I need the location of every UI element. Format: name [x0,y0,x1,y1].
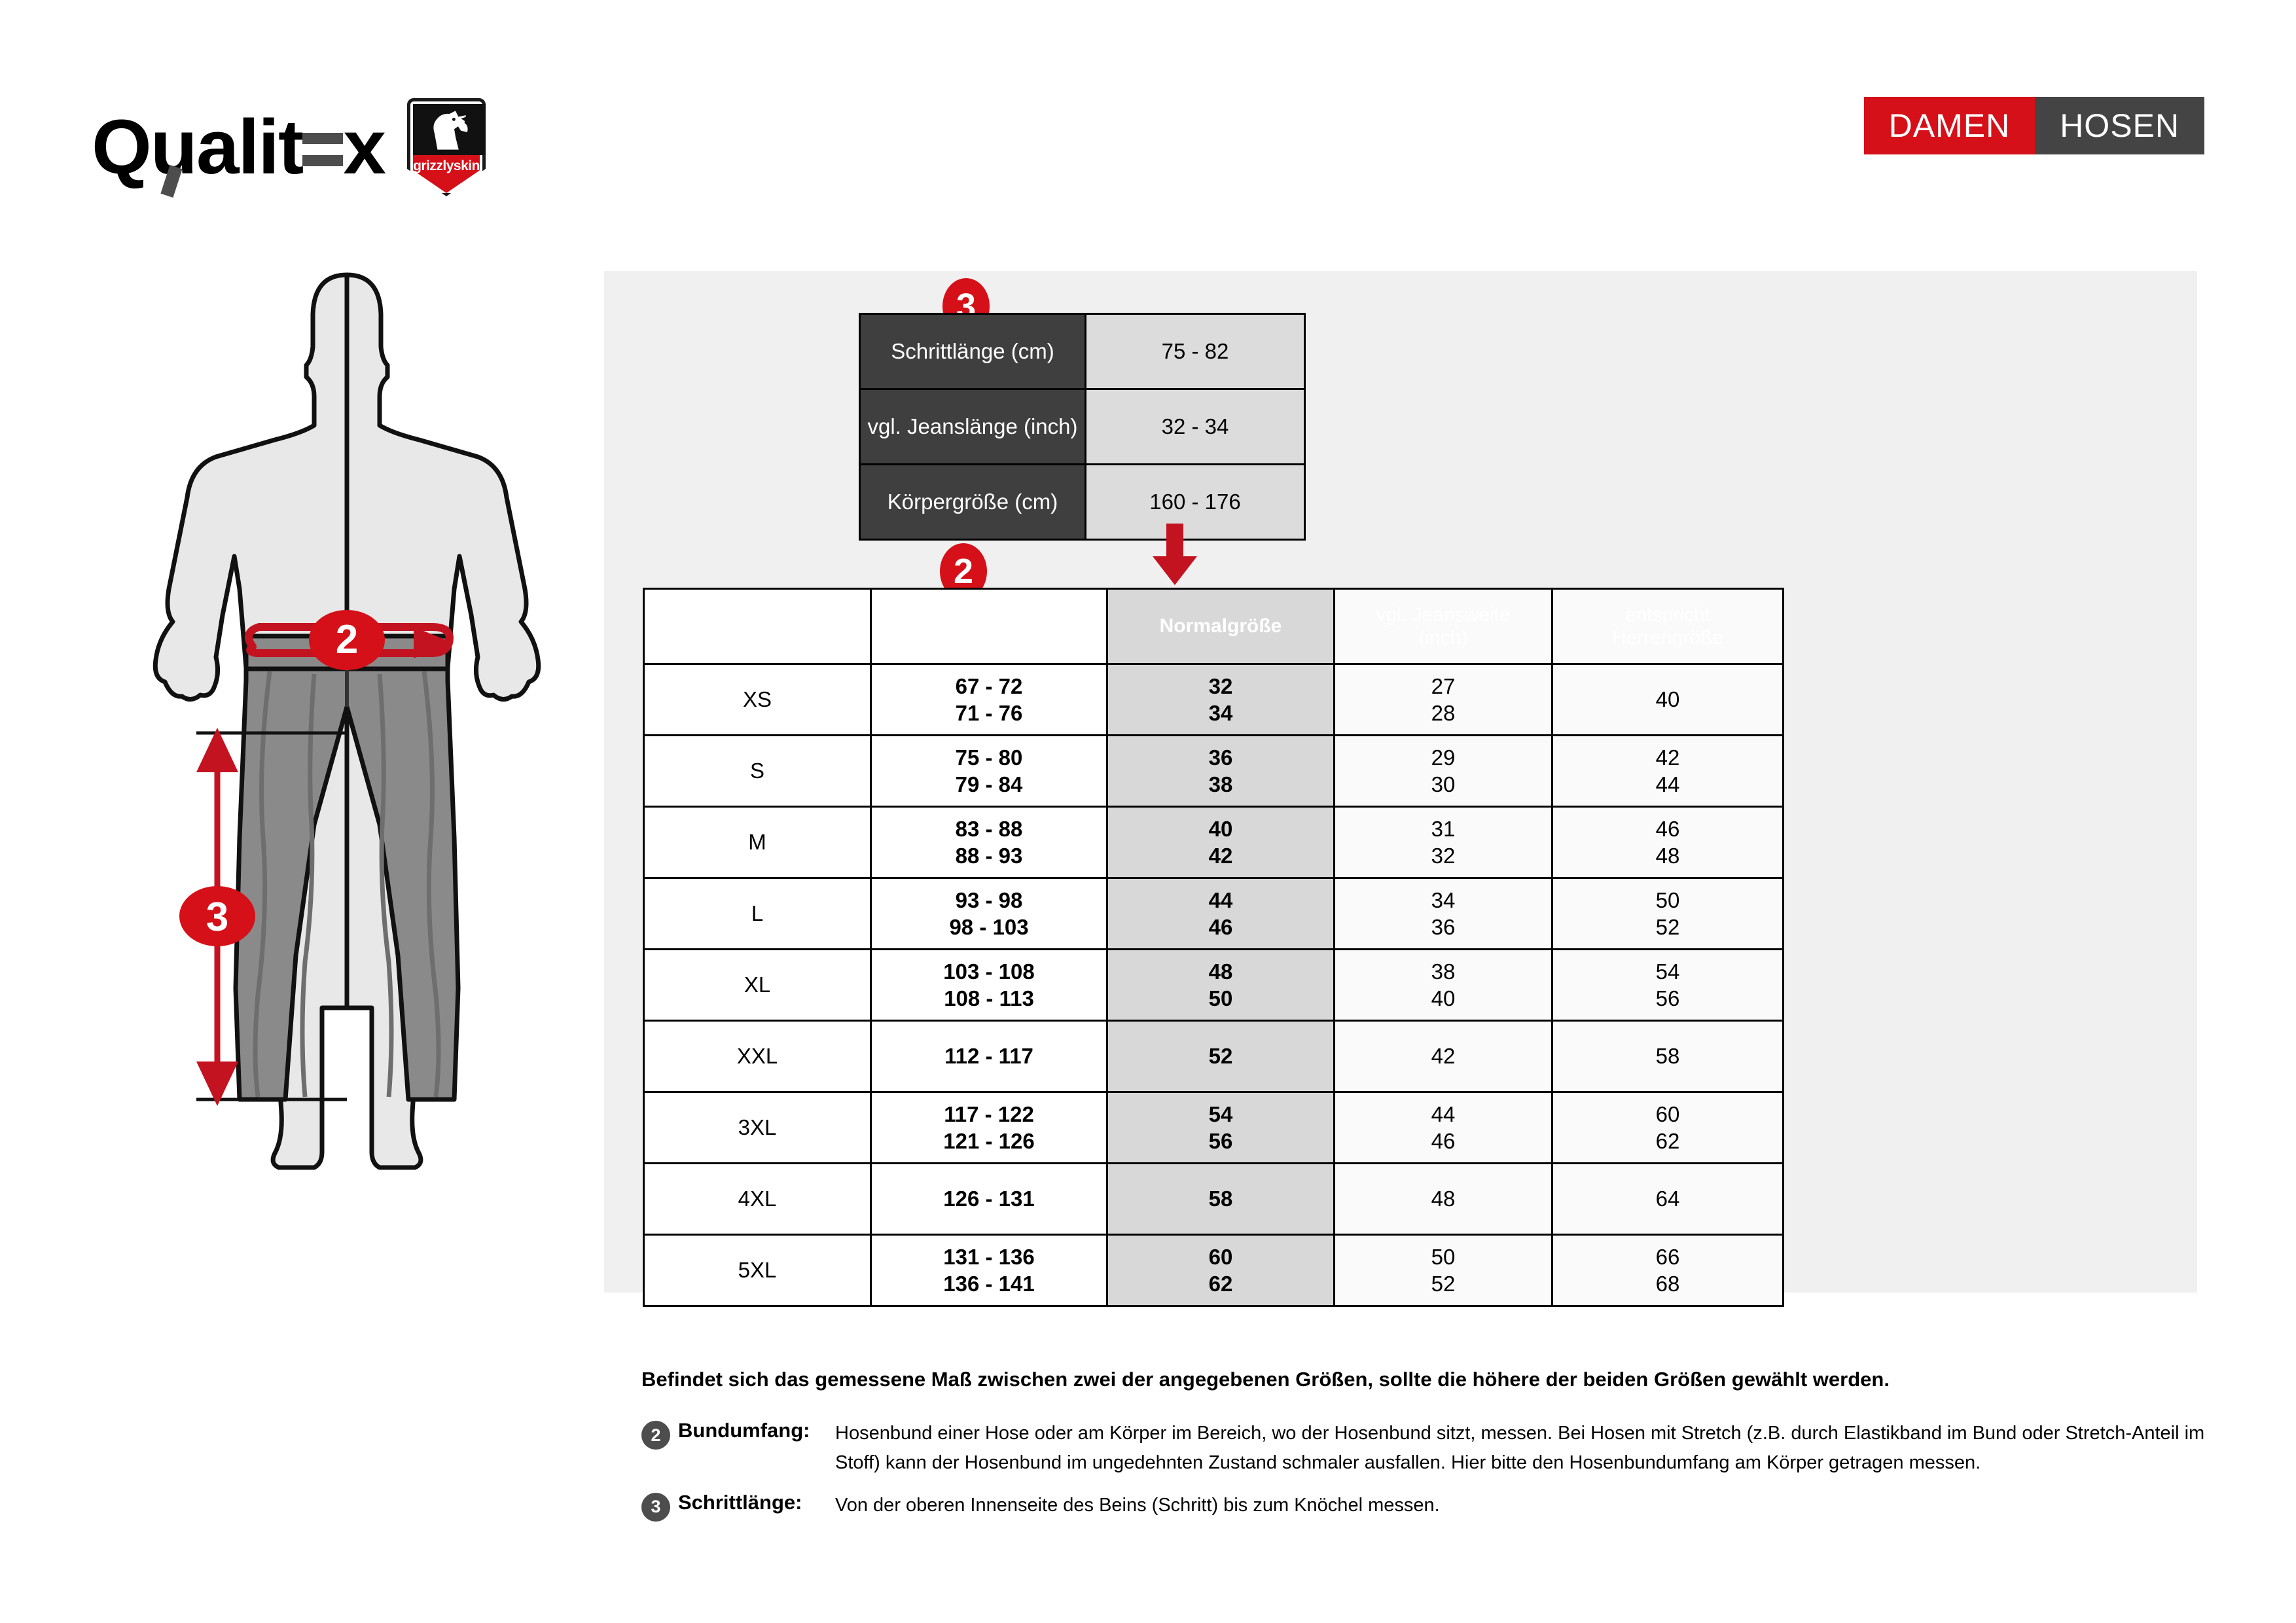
cell-value: 38 [1336,958,1551,985]
length-row-label: Schrittlänge (cm) [860,314,1086,389]
table-row: L93 - 9898 - 103444634365052 [644,878,1784,950]
footnote-text: Hosenbund einer Hose oder am Körper im B… [835,1419,2212,1478]
cell-international-size: S [644,736,871,807]
cell-value: 42 [1109,842,1333,869]
cell-international-size: XXL [644,1021,871,1092]
cell-waist-circumference: 83 - 8888 - 93 [871,807,1107,878]
cell-value: 46 [1554,815,1782,842]
cell-mens-size: 58 [1552,1021,1784,1092]
cell-value: 88 - 93 [872,842,1105,869]
cell-mens-size: 40 [1552,664,1784,736]
cell-mens-size: 64 [1552,1164,1784,1235]
cell-value: 28 [1336,700,1551,726]
cell-waist-circumference: 126 - 131 [871,1164,1107,1235]
human-silhouette-icon [155,275,538,1168]
cell-international-size: XL [644,950,871,1021]
cell-value: 75 - 80 [872,744,1105,771]
cell-value: 52 [1336,1270,1551,1297]
cell-value: 54 [1554,958,1782,985]
figure-marker-inseam-label: 3 [206,895,228,940]
length-row-label: vgl. Jeanslänge (inch) [860,389,1086,465]
length-row-value: 75 - 82 [1086,314,1305,389]
cell-jeans-width: 4446 [1335,1092,1552,1164]
size-table-body: XS67 - 7271 - 763234272840S75 - 8079 - 8… [644,664,1784,1306]
cell-value: 98 - 103 [872,914,1105,940]
table-row: XS67 - 7271 - 763234272840 [644,664,1784,736]
cell-waist-circumference: 103 - 108108 - 113 [871,950,1107,1021]
cell-value: 60 [1109,1243,1333,1270]
footnote-number-badge: 2 [641,1421,670,1450]
table-row: S75 - 8079 - 84363829304244 [644,736,1784,807]
cell-mens-size: 4648 [1552,807,1784,878]
cell-value: 112 - 117 [872,1043,1105,1069]
size-table-column-header: entsprichtHerrengröße [1552,589,1784,664]
size-table-column-header: Normalgröße [1107,589,1335,664]
length-table-row: vgl. Jeanslänge (inch)32 - 34 [860,389,1305,465]
cell-value: L [645,900,869,927]
cell-value: 40 [1109,815,1333,842]
figure-marker-inseam: 3 [179,886,255,946]
cell-value: 62 [1109,1270,1333,1297]
footnote-number-badge: 3 [641,1493,670,1522]
cell-international-size: XS [644,664,871,736]
cell-value: 48 [1109,958,1333,985]
cell-value: 58 [1109,1185,1333,1212]
cell-value: 44 [1554,771,1782,798]
cell-value: 103 - 108 [872,958,1105,985]
cell-value: 34 [1336,887,1551,914]
size-table: internationaleGrößeBundumfang bis(cm) - … [643,588,1784,1307]
brand-name-part1: Qualit [92,104,302,190]
cell-value: 68 [1554,1270,1782,1297]
length-row-label: Körpergröße (cm) [860,465,1086,540]
cell-value: 136 - 141 [872,1270,1105,1297]
cell-value: 42 [1554,744,1782,771]
cell-jeans-width: 42 [1335,1021,1552,1092]
cell-value: 46 [1109,914,1333,940]
cell-value: 29 [1336,744,1551,771]
cell-jeans-width: 3436 [1335,878,1552,950]
cell-value: 52 [1554,914,1782,940]
cell-value: 93 - 98 [872,887,1105,914]
cell-value: 56 [1109,1128,1333,1154]
cell-value: S [645,757,869,784]
footnote-lead: Befindet sich das gemessene Maß zwischen… [641,1368,2212,1391]
cell-jeans-width: 3132 [1335,807,1552,878]
cell-mens-size: 5052 [1552,878,1784,950]
brand-name-part2: x [343,104,385,190]
cell-mens-size: 5456 [1552,950,1784,1021]
header-category-badge: DAMEN HOSEN [1864,97,2204,154]
cell-value: 38 [1109,771,1333,798]
cell-value: 50 [1109,985,1333,1012]
cell-value: 36 [1336,914,1551,940]
footnote-term: Schrittlänge: [670,1491,835,1514]
cell-value: 131 - 136 [872,1243,1105,1270]
cell-mens-size: 6062 [1552,1092,1784,1164]
length-table: Schrittlänge (cm)75 - 82vgl. Jeanslänge … [859,313,1306,541]
cell-value: 50 [1554,887,1782,914]
cell-waist-circumference: 112 - 117 [871,1021,1107,1092]
size-table-column-header: internationaleGröße [644,589,871,664]
length-row-value: 160 - 176 [1086,465,1305,540]
cell-value: 48 [1554,842,1782,869]
cell-value: 48 [1336,1185,1551,1212]
cell-value: 56 [1554,985,1782,1012]
cell-value: 117 - 122 [872,1101,1105,1128]
cell-value: XL [645,971,869,998]
figure-marker-waist-label: 2 [336,617,358,662]
cell-value: 44 [1336,1101,1551,1128]
badge-gender-label: DAMEN [1864,97,2036,154]
cell-value: 30 [1336,771,1551,798]
cell-waist-circumference: 67 - 7271 - 76 [871,664,1107,736]
size-table-column-header: vgl. Jeansweite(inch) [1335,589,1552,664]
footnote-list: 2Bundumfang:Hosenbund einer Hose oder am… [641,1419,2212,1522]
cell-value: 27 [1336,673,1551,700]
length-row-value: 32 - 34 [1086,389,1305,465]
footnote-item: 3Schrittlänge:Von der oberen Innenseite … [641,1491,2212,1522]
cell-value: 83 - 88 [872,815,1105,842]
cell-international-size: M [644,807,871,878]
cell-value: 40 [1554,686,1782,713]
cell-value: 52 [1109,1043,1333,1069]
cell-normal-size: 3638 [1107,736,1335,807]
table-row: 3XL117 - 122121 - 126545644466062 [644,1092,1784,1164]
figure-marker-waist: 2 [309,610,385,670]
cell-value: 108 - 113 [872,985,1105,1012]
brand-wordmark: Qualitx [92,109,385,186]
cell-value: 50 [1336,1243,1551,1270]
cell-waist-circumference: 75 - 8079 - 84 [871,736,1107,807]
cell-waist-circumference: 131 - 136136 - 141 [871,1235,1107,1306]
cell-value: 46 [1336,1128,1551,1154]
cell-value: 60 [1554,1101,1782,1128]
cell-value: 3XL [645,1114,869,1141]
length-table-row: Schrittlänge (cm)75 - 82 [860,314,1305,389]
cell-international-size: 4XL [644,1164,871,1235]
footnote-item: 2Bundumfang:Hosenbund einer Hose oder am… [641,1419,2212,1478]
cell-value: 42 [1336,1043,1551,1069]
cell-value: 62 [1554,1128,1782,1154]
cell-value: 31 [1336,815,1551,842]
cell-normal-size: 6062 [1107,1235,1335,1306]
cell-jeans-width: 48 [1335,1164,1552,1235]
cell-value: M [645,829,869,855]
table-row: M83 - 8888 - 93404231324648 [644,807,1784,878]
brand-logo: Qualitx grizzlyskin [92,98,486,196]
table-row: 4XL126 - 131584864 [644,1164,1784,1235]
grizzlyskin-logo: grizzlyskin [407,98,486,196]
cell-value: XXL [645,1043,869,1069]
cell-normal-size: 4042 [1107,807,1335,878]
cell-value: 126 - 131 [872,1185,1105,1212]
cell-jeans-width: 2930 [1335,736,1552,807]
size-table-column-header: Bundumfang bis(cm) - ohne Stretch [871,589,1107,664]
cell-value: 4XL [645,1185,869,1212]
table-row: XL103 - 108108 - 113485038405456 [644,950,1784,1021]
cell-normal-size: 52 [1107,1021,1335,1092]
cell-value: 32 [1336,842,1551,869]
cell-value: 58 [1554,1043,1782,1069]
length-table-body: Schrittlänge (cm)75 - 82vgl. Jeanslänge … [860,314,1305,540]
length-table-row: Körpergröße (cm)160 - 176 [860,465,1305,540]
cell-mens-size: 6668 [1552,1235,1784,1306]
cell-value: 34 [1109,700,1333,726]
badge-product-label: HOSEN [2035,97,2204,154]
footnotes: Befindet sich das gemessene Maß zwischen… [641,1368,2212,1535]
cell-value: 71 - 76 [872,700,1105,726]
cell-value: 5XL [645,1257,869,1283]
cell-normal-size: 3234 [1107,664,1335,736]
cell-value: 64 [1554,1185,1782,1212]
cell-value: 40 [1336,985,1551,1012]
cell-waist-circumference: 93 - 9898 - 103 [871,878,1107,950]
cell-value: 36 [1109,744,1333,771]
stylized-e-icon [302,126,343,177]
cell-normal-size: 4850 [1107,950,1335,1021]
cell-value: 66 [1554,1243,1782,1270]
cell-value: 67 - 72 [872,673,1105,700]
cell-value: 79 - 84 [872,771,1105,798]
cell-normal-size: 5456 [1107,1092,1335,1164]
size-table-header-row: internationaleGrößeBundumfang bis(cm) - … [644,589,1784,664]
cell-international-size: L [644,878,871,950]
cell-normal-size: 58 [1107,1164,1335,1235]
cell-jeans-width: 3840 [1335,950,1552,1021]
cell-international-size: 3XL [644,1092,871,1164]
cell-jeans-width: 5052 [1335,1235,1552,1306]
grizzly-bear-icon [413,104,486,155]
cell-international-size: 5XL [644,1235,871,1306]
cell-value: 54 [1109,1101,1333,1128]
cell-waist-circumference: 117 - 122121 - 126 [871,1092,1107,1164]
table-row: XXL112 - 117524258 [644,1021,1784,1092]
cell-value: 44 [1109,887,1333,914]
cell-jeans-width: 2728 [1335,664,1552,736]
cell-value: XS [645,686,869,713]
measurement-figure: 2 3 [118,249,576,1230]
table-row: 5XL131 - 136136 - 141606250526668 [644,1235,1784,1306]
cell-value: 121 - 126 [872,1128,1105,1154]
cell-mens-size: 4244 [1552,736,1784,807]
cell-normal-size: 4446 [1107,878,1335,950]
footnote-term: Bundumfang: [670,1419,835,1442]
cell-value: 32 [1109,673,1333,700]
footnote-text: Von der oberen Innenseite des Beins (Sch… [835,1491,2212,1520]
grizzlyskin-label: grizzlyskin [407,158,486,174]
